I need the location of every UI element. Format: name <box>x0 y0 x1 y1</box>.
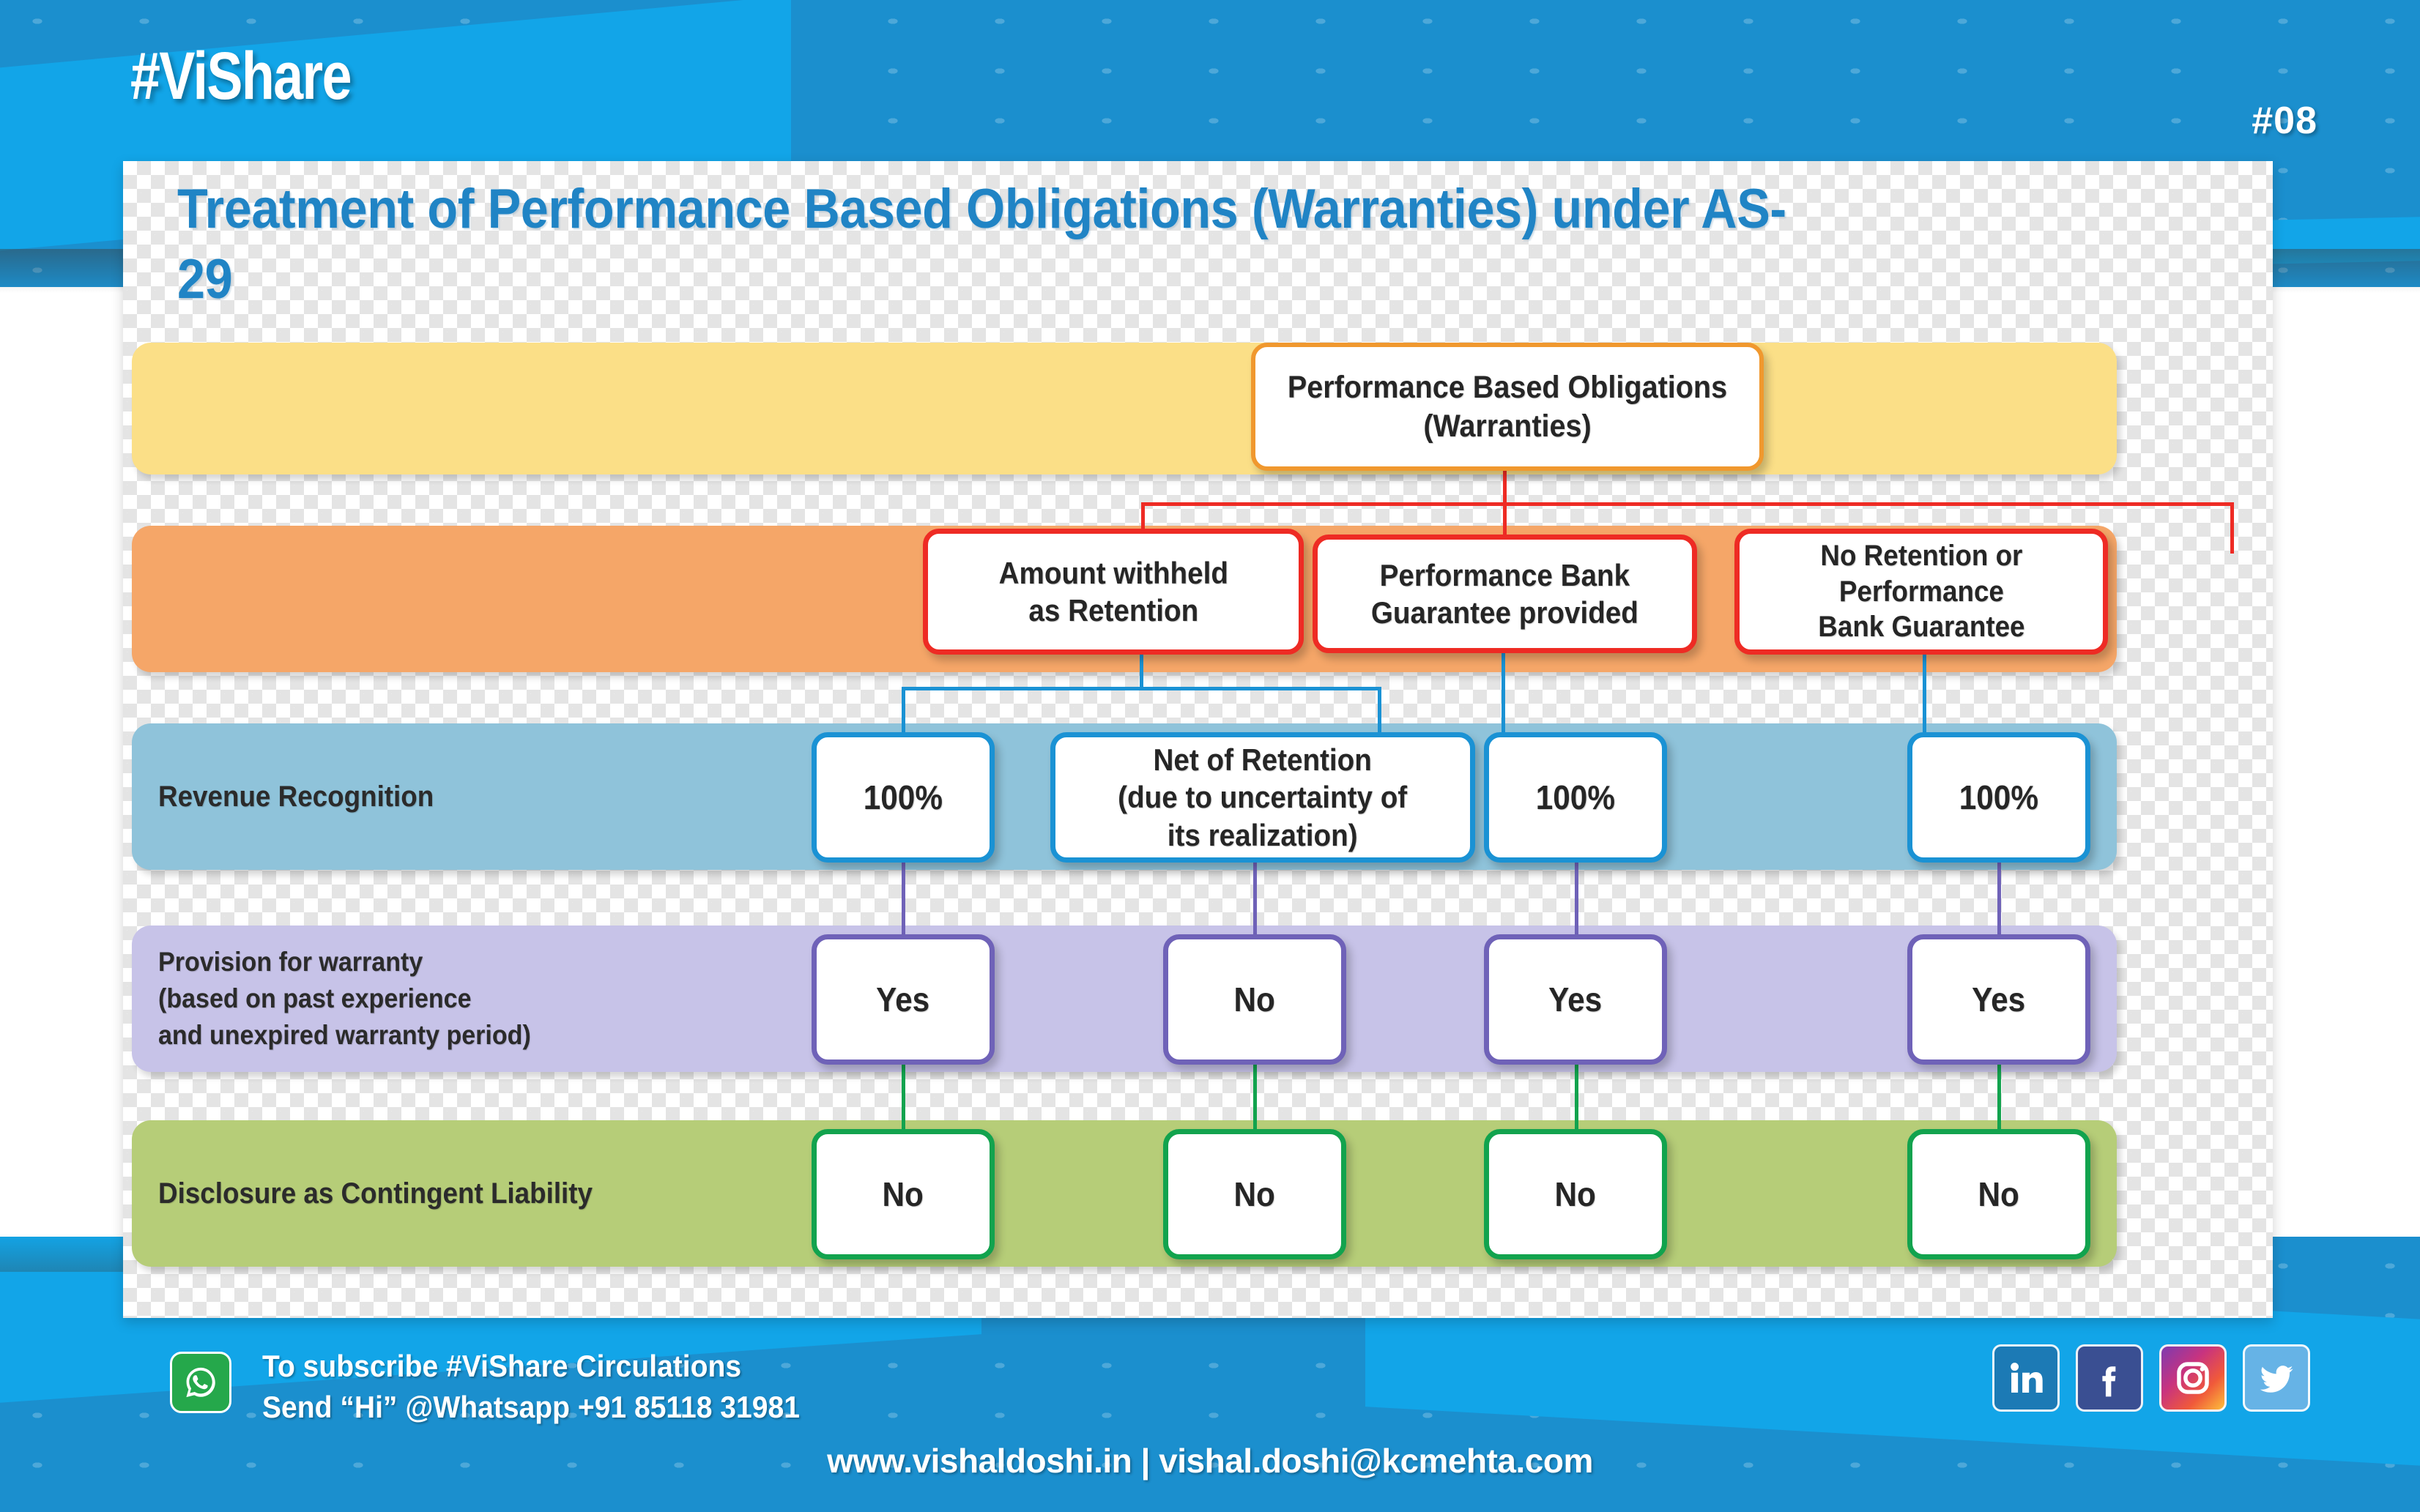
connector-branch2-to-col3 <box>1502 650 1505 732</box>
whatsapp-icon[interactable] <box>170 1352 231 1413</box>
band-row-root <box>132 343 2117 474</box>
content-panel: Treatment of Performance Based Obligatio… <box>123 161 2273 1318</box>
node-disclosure-col1-label: No <box>883 1174 924 1215</box>
node-provision-col3-label: Yes <box>1549 979 1603 1020</box>
node-branch-2-label: Performance Bank Guarantee provided <box>1371 556 1638 631</box>
node-root-label: Performance Based Obligations (Warrantie… <box>1283 368 1733 445</box>
side-band-left <box>0 287 128 1237</box>
website-contact-line[interactable]: www.vishaldoshi.in | vishal.doshi@kcmeht… <box>0 1441 2420 1481</box>
node-revenue-col3-label: 100% <box>1536 777 1615 818</box>
node-provision-col4-label: Yes <box>1972 979 2026 1020</box>
connector-provision-col3-to-disclosure <box>1575 1063 1578 1131</box>
node-revenue-col3[interactable]: 100% <box>1484 732 1667 863</box>
node-disclosure-col3[interactable]: No <box>1484 1129 1667 1259</box>
connector-branch1-stem <box>1140 650 1143 688</box>
node-disclosure-col4[interactable]: No <box>1907 1129 2090 1259</box>
facebook-icon[interactable] <box>2076 1344 2143 1412</box>
connector-root-bus <box>1141 502 2234 506</box>
node-disclosure-col4-label: No <box>1978 1174 2019 1215</box>
node-branch-1-label: Amount withheld as Retention <box>998 554 1228 629</box>
issue-number-badge: #08 <box>2252 99 2317 143</box>
node-revenue-col2[interactable]: Net of Retention (due to uncertainty of … <box>1050 732 1475 863</box>
subscribe-text: To subscribe #ViShare Circulations Send … <box>262 1346 800 1428</box>
node-provision-col1-label: Yes <box>877 979 930 1020</box>
twitter-icon[interactable] <box>2243 1344 2310 1412</box>
band-row-provision: Provision for warranty (based on past ex… <box>132 926 2117 1072</box>
page-title: Treatment of Performance Based Obligatio… <box>177 174 1825 315</box>
connector-to-branch-3 <box>2230 502 2234 554</box>
connector-branch3-to-col4 <box>1923 650 1926 732</box>
node-revenue-col1-label: 100% <box>864 777 943 818</box>
row-label-revenue-recognition: Revenue Recognition <box>158 777 434 816</box>
connector-revenue-col2-to-provision <box>1253 861 1257 934</box>
connector-revenue-col4-to-provision <box>1997 861 2001 934</box>
connector-branch1-to-col1 <box>902 687 905 732</box>
node-revenue-col2-label: Net of Retention (due to uncertainty of … <box>1118 741 1408 854</box>
connector-branch1-to-col2 <box>1378 687 1381 732</box>
node-branch-3-label: No Retention or Performance Bank Guarant… <box>1818 538 2024 645</box>
node-branch-performance-bank-guarantee-provided[interactable]: Performance Bank Guarantee provided <box>1313 535 1697 653</box>
connector-provision-col1-to-disclosure <box>902 1063 905 1131</box>
connector-provision-col4-to-disclosure <box>1997 1063 2001 1131</box>
infographic-canvas: #ViShare #08 Treatment of Performance Ba… <box>0 0 2420 1512</box>
band-row-disclosure: Disclosure as Contingent Liability <box>132 1120 2117 1267</box>
node-disclosure-col2[interactable]: No <box>1163 1129 1346 1259</box>
social-links <box>1992 1344 2310 1412</box>
row-label-provision-for-warranty: Provision for warranty (based on past ex… <box>158 944 531 1054</box>
node-disclosure-col3-label: No <box>1555 1174 1596 1215</box>
node-root-performance-based-obligations[interactable]: Performance Based Obligations (Warrantie… <box>1251 343 1764 471</box>
node-provision-col3[interactable]: Yes <box>1484 934 1667 1065</box>
node-disclosure-col1[interactable]: No <box>812 1129 995 1259</box>
node-revenue-col4-label: 100% <box>1959 777 2038 818</box>
node-provision-col2[interactable]: No <box>1163 934 1346 1065</box>
node-branch-no-retention-or-performance-bank-guarantee[interactable]: No Retention or Performance Bank Guarant… <box>1734 529 2108 655</box>
node-disclosure-col2-label: No <box>1234 1174 1275 1215</box>
node-provision-col1[interactable]: Yes <box>812 934 995 1065</box>
node-revenue-col1[interactable]: 100% <box>812 732 995 863</box>
row-label-disclosure-contingent-liability: Disclosure as Contingent Liability <box>158 1174 593 1213</box>
side-band-right <box>2266 287 2420 1237</box>
node-branch-amount-withheld-as-retention[interactable]: Amount withheld as Retention <box>923 529 1304 655</box>
node-revenue-col4[interactable]: 100% <box>1907 732 2090 863</box>
connector-revenue-col1-to-provision <box>902 861 905 934</box>
node-provision-col4[interactable]: Yes <box>1907 934 2090 1065</box>
linkedin-icon[interactable] <box>1992 1344 2060 1412</box>
connector-branch1-bus <box>902 687 1381 690</box>
instagram-icon[interactable] <box>2159 1344 2227 1412</box>
node-provision-col2-label: No <box>1234 979 1275 1020</box>
connector-provision-col2-to-disclosure <box>1253 1063 1257 1131</box>
brand-logo: #ViShare <box>130 42 351 110</box>
connector-revenue-col3-to-provision <box>1575 861 1578 934</box>
